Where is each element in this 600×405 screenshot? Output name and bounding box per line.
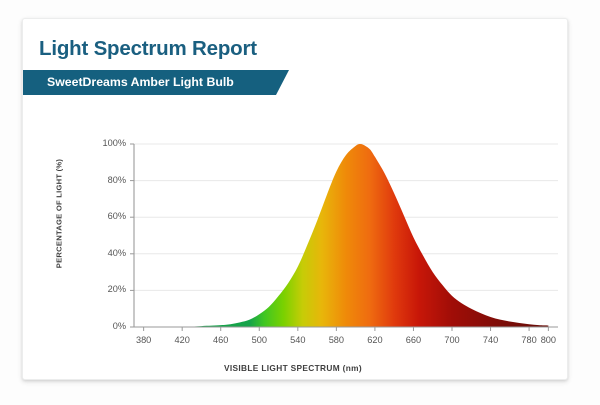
x-tick-label: 420 bbox=[162, 335, 202, 345]
x-tick-label: 700 bbox=[432, 335, 472, 345]
y-tick-label: 80% bbox=[86, 175, 126, 185]
page-title: Light Spectrum Report bbox=[39, 37, 257, 61]
x-tick-label: 460 bbox=[201, 335, 241, 345]
x-tick-label: 620 bbox=[355, 335, 395, 345]
y-tick-label: 20% bbox=[86, 284, 126, 294]
screenshot-root: Light Spectrum Report SweetDreams Amber … bbox=[0, 0, 600, 405]
x-tick-label: 380 bbox=[124, 335, 164, 345]
subtitle-banner-label: SweetDreams Amber Light Bulb bbox=[47, 70, 234, 95]
x-tick-label: 660 bbox=[393, 335, 433, 345]
x-tick-label: 580 bbox=[316, 335, 356, 345]
y-tick-label: 100% bbox=[86, 138, 126, 148]
spectrum-chart: PERCENTAGE OF LIGHT (%) VISIBLE LIGHT SP… bbox=[23, 105, 568, 380]
spectrum-area bbox=[144, 144, 549, 327]
y-tick-label: 0% bbox=[86, 321, 126, 331]
report-card: Light Spectrum Report SweetDreams Amber … bbox=[22, 18, 568, 380]
x-tick-label: 740 bbox=[471, 335, 511, 345]
subtitle-banner: SweetDreams Amber Light Bulb bbox=[23, 70, 289, 95]
y-tick-label: 60% bbox=[86, 211, 126, 221]
y-tick-label: 40% bbox=[86, 248, 126, 258]
x-tick-label: 540 bbox=[278, 335, 318, 345]
x-tick-label: 800 bbox=[528, 335, 568, 345]
x-tick-label: 500 bbox=[239, 335, 279, 345]
